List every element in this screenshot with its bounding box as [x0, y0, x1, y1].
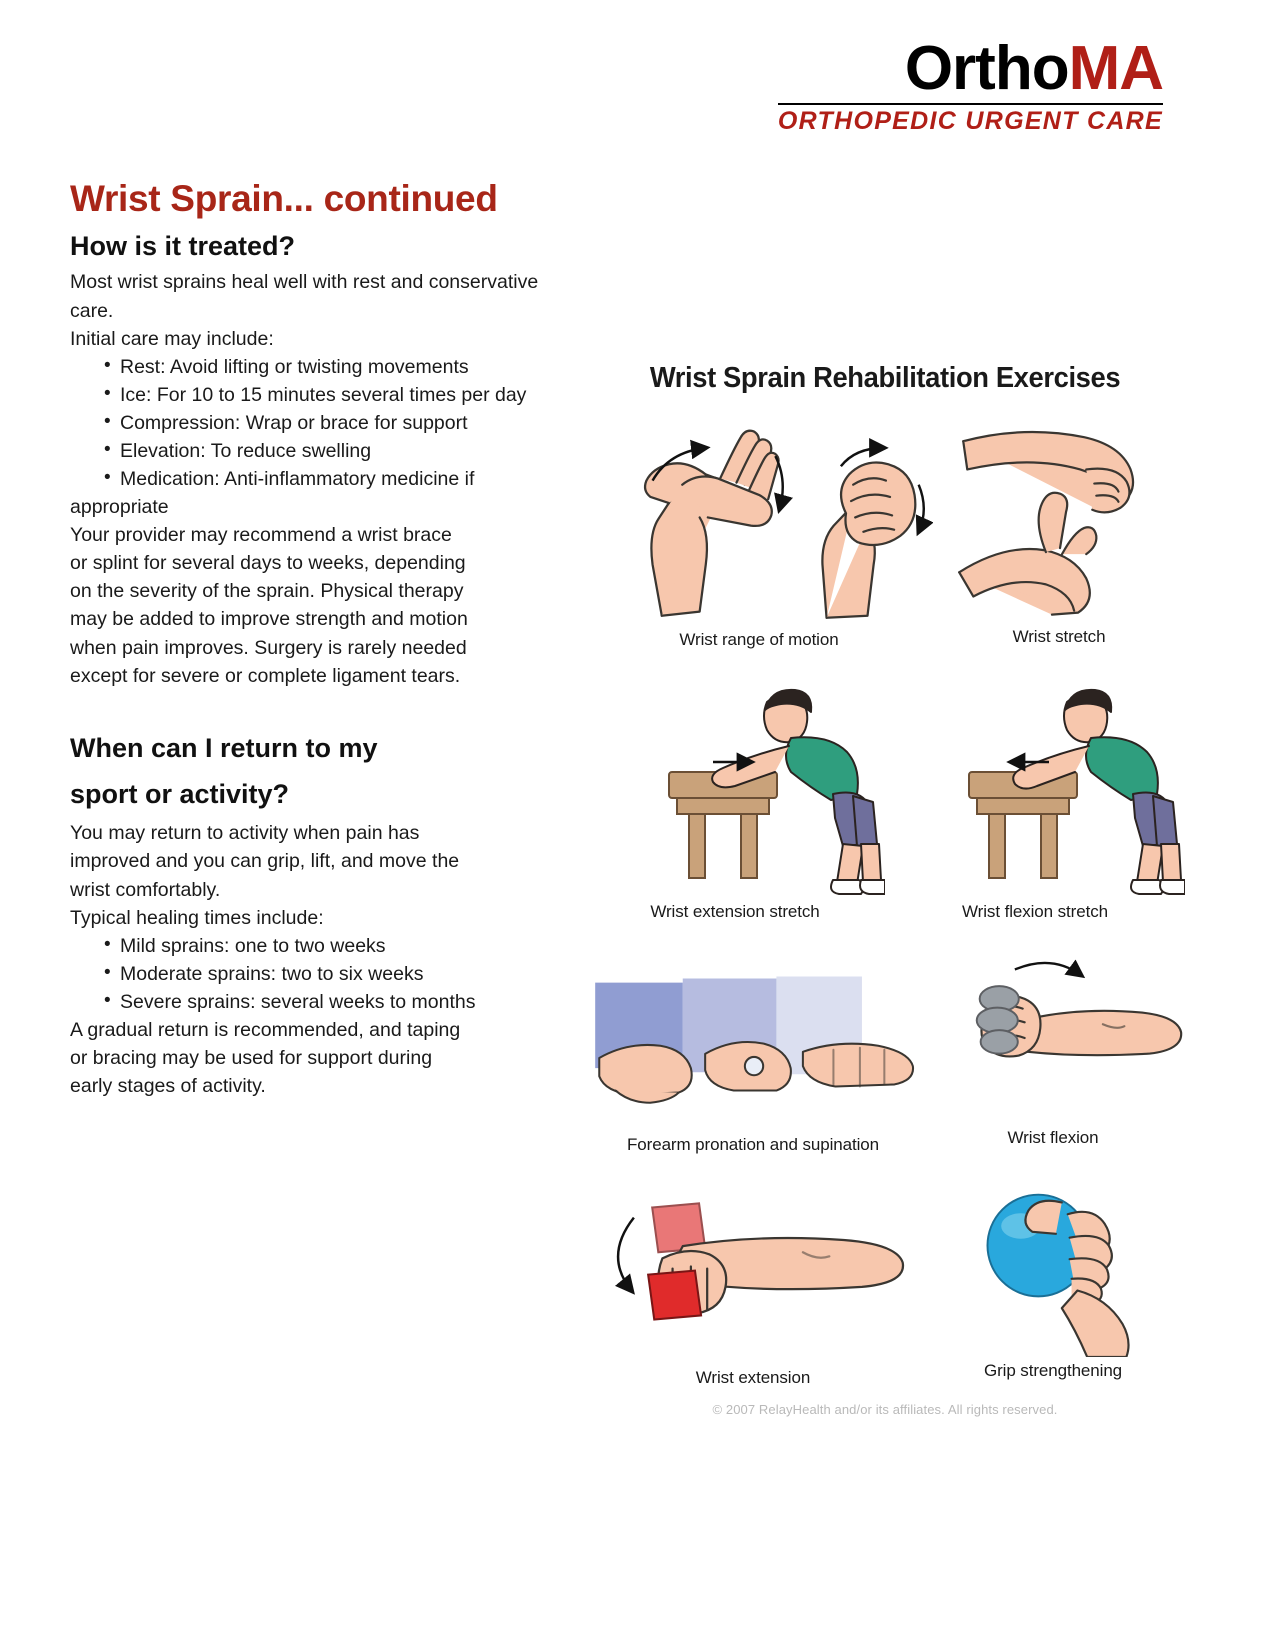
figure-copyright: © 2007 RelayHealth and/or its affiliates… — [585, 1402, 1185, 1417]
figure-cell-wrist-extension: Wrist extension — [585, 1181, 921, 1388]
figure-cell-range-of-motion: Wrist range of motion — [585, 411, 933, 650]
list-item: Mild sprains: one to two weeks — [104, 932, 540, 960]
wrist-stretch-illustration — [933, 411, 1185, 623]
figure-cell-pronation-supination: Forearm pronation and supination — [585, 948, 921, 1155]
treatment-para-line-1: appropriate — [70, 493, 540, 521]
logo-word-ma: MA — [1069, 34, 1163, 103]
figure-cell-wrist-stretch: Wrist stretch — [933, 411, 1185, 650]
treatment-para-line-2: Your provider may recommend a wrist brac… — [70, 521, 540, 549]
caption-pronation-supination: Forearm pronation and supination — [585, 1135, 921, 1155]
treatment-para-line-4: on the severity of the sprain. Physical … — [70, 577, 540, 605]
figure-cell-grip-strengthening: Grip strengthening — [921, 1181, 1185, 1388]
page-title: Wrist Sprain... continued — [70, 178, 540, 219]
logo-tagline: ORTHOPEDIC URGENT CARE — [778, 109, 1163, 134]
caption-wrist-extension: Wrist extension — [585, 1368, 921, 1388]
caption-extension-stretch: Wrist extension stretch — [585, 902, 885, 922]
logo-divider — [778, 103, 1163, 105]
list-item: Elevation: To reduce swelling — [104, 437, 540, 465]
treatment-para-line-6: when pain improves. Surgery is rarely ne… — [70, 634, 540, 662]
caption-wrist-flexion: Wrist flexion — [921, 1128, 1185, 1148]
return-intro-line-4: Typical healing times include: — [70, 904, 540, 932]
figure-row-2: Wrist extension stretch — [585, 668, 1185, 922]
list-item: Severe sprains: several weeks to months — [104, 988, 540, 1016]
caption-grip-strengthening: Grip strengthening — [921, 1361, 1185, 1381]
brand-logo: OrthoMA ORTHOPEDIC URGENT CARE — [778, 38, 1163, 134]
list-item: Moderate sprains: two to six weeks — [104, 960, 540, 988]
wrist-flexion-stretch-illustration — [885, 668, 1185, 898]
wrist-range-of-motion-illustration — [585, 411, 933, 626]
treatment-para-line-3: or splint for several days to weeks, dep… — [70, 549, 540, 577]
treatment-intro-line-2: Initial care may include: — [70, 325, 540, 353]
caption-wrist-stretch: Wrist stretch — [933, 627, 1185, 647]
treatment-bullet-list: Rest: Avoid lifting or twisting movement… — [70, 353, 540, 493]
figure-cell-extension-stretch: Wrist extension stretch — [585, 668, 885, 922]
figure-cell-wrist-flexion: Wrist flexion — [921, 948, 1185, 1155]
wrist-extension-stretch-illustration — [585, 668, 885, 898]
article-body: Wrist Sprain... continued How is it trea… — [70, 178, 540, 1100]
return-para-line-1: A gradual return is recommended, and tap… — [70, 1016, 540, 1044]
list-item: Rest: Avoid lifting or twisting movement… — [104, 353, 540, 381]
treatment-para-line-7: except for severe or complete ligament t… — [70, 662, 540, 690]
section-heading-return-line1: When can I return to my — [70, 728, 540, 770]
figure-cell-flexion-stretch: Wrist flexion stretch — [885, 668, 1185, 922]
wrist-extension-illustration — [585, 1181, 921, 1364]
figure-title: Wrist Sprain Rehabilitation Exercises — [597, 362, 1173, 395]
list-item: Compression: Wrap or brace for support — [104, 409, 540, 437]
return-para-line-2: or bracing may be used for support durin… — [70, 1044, 540, 1072]
return-intro-line-2: improved and you can grip, lift, and mov… — [70, 847, 540, 875]
logo-word-ortho: Ortho — [905, 34, 1069, 103]
section-heading-treatment: How is it treated? — [70, 231, 540, 262]
section-heading-return-line2: sport or activity? — [70, 774, 540, 816]
caption-flexion-stretch: Wrist flexion stretch — [885, 902, 1185, 922]
list-item: Ice: For 10 to 15 minutes several times … — [104, 381, 540, 409]
list-item: Medication: Anti-inflammatory medicine i… — [104, 465, 540, 493]
figure-row-1: Wrist range of motion Wrist st — [585, 411, 1185, 650]
grip-strengthening-illustration — [921, 1181, 1185, 1357]
treatment-para-line-5: may be added to improve strength and mot… — [70, 605, 540, 633]
return-intro-line-1: You may return to activity when pain has — [70, 819, 540, 847]
rehab-exercise-figure: Wrist Sprain Rehabilitation Exercises — [585, 362, 1185, 1417]
return-para-line-3: early stages of activity. — [70, 1072, 540, 1100]
treatment-intro-line-1: Most wrist sprains heal well with rest a… — [70, 268, 540, 324]
return-intro-line-3: wrist comfortably. — [70, 876, 540, 904]
figure-row-4: Wrist extension — [585, 1181, 1185, 1388]
figure-row-3: Forearm pronation and supination — [585, 948, 1185, 1155]
caption-range-of-motion: Wrist range of motion — [585, 630, 933, 650]
section-spacer — [70, 690, 540, 728]
wrist-flexion-illustration — [921, 948, 1185, 1124]
healing-times-bullet-list: Mild sprains: one to two weeks Moderate … — [70, 932, 540, 1016]
forearm-pronation-supination-illustration — [585, 948, 921, 1131]
logo-wordmark: OrthoMA — [778, 38, 1163, 100]
